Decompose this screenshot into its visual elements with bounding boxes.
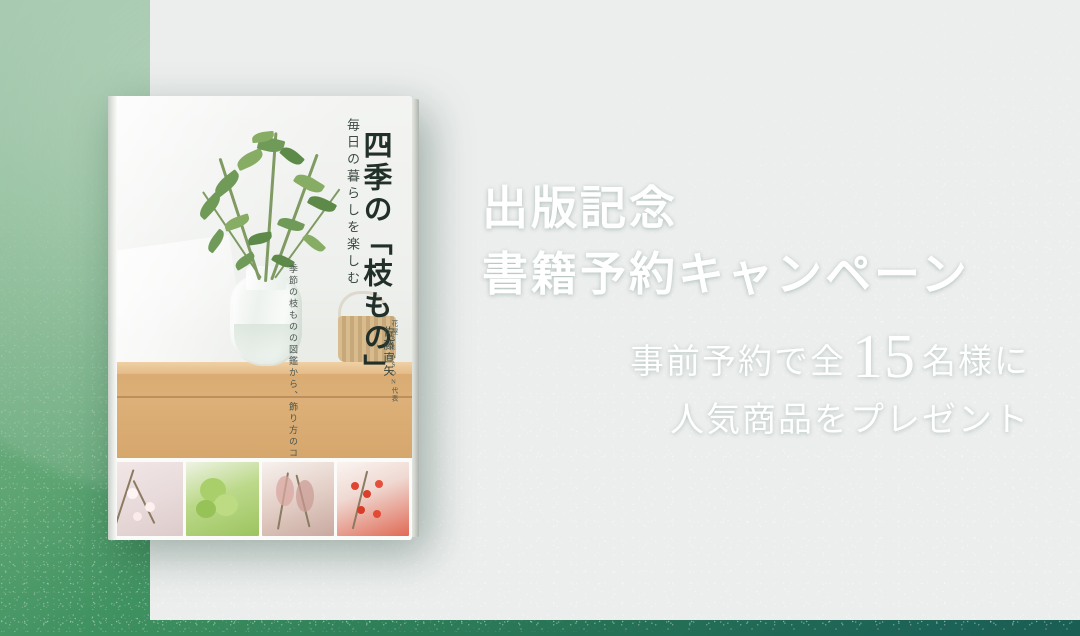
branch-leaf xyxy=(277,215,305,235)
subheadline-line-1: 事前予約で全15名様に xyxy=(482,334,1030,392)
cover-thumbnail-strip xyxy=(108,458,412,540)
book-page-edge xyxy=(411,99,419,537)
thumbnail-red-berry-branch xyxy=(337,462,409,536)
book-mockup: 四季の「枝もの」 毎日の暮らしを楽しむ 季節の枝ものの図鑑から、飾り方のコツ、ト… xyxy=(108,96,412,540)
branch-leaf xyxy=(235,148,266,171)
headline-line-2: 書籍予約キャンペーン xyxy=(482,242,1038,308)
wooden-cabinet xyxy=(108,362,412,458)
subheadline-prefix: 事前予約で全 xyxy=(630,344,846,381)
campaign-banner: 四季の「枝もの」 毎日の暮らしを楽しむ 季節の枝ものの図鑑から、飾り方のコツ、ト… xyxy=(0,0,1080,636)
branch-leaf xyxy=(302,231,326,255)
thumbnail-cherry-blossom-branch xyxy=(111,462,183,536)
book-spine xyxy=(108,96,117,540)
branch-leaf xyxy=(279,144,305,169)
thumbnail-green-viburnum xyxy=(186,462,258,536)
headline: 出版記念 書籍予約キャンペーン xyxy=(482,176,1038,308)
cover-photograph xyxy=(108,96,412,458)
subheadline-suffix: 名様に xyxy=(922,344,1030,381)
branch-leaf xyxy=(223,213,251,231)
book-cover: 四季の「枝もの」 毎日の暮らしを楽しむ 季節の枝ものの図鑑から、飾り方のコツ、ト… xyxy=(108,96,412,540)
winner-count: 15 xyxy=(846,323,922,391)
campaign-copy: 出版記念 書籍予約キャンペーン 事前予約で全15名様に 人気商品をプレゼント xyxy=(482,176,1038,450)
cabinet-drawer-line xyxy=(108,396,412,398)
headline-line-1: 出版記念 xyxy=(482,183,678,234)
subheadline-line-2: 人気商品をプレゼント xyxy=(482,392,1030,450)
woven-basket xyxy=(338,316,396,362)
subheadline: 事前予約で全15名様に 人気商品をプレゼント xyxy=(482,334,1038,450)
thumbnail-pink-spray-branch xyxy=(262,462,334,536)
